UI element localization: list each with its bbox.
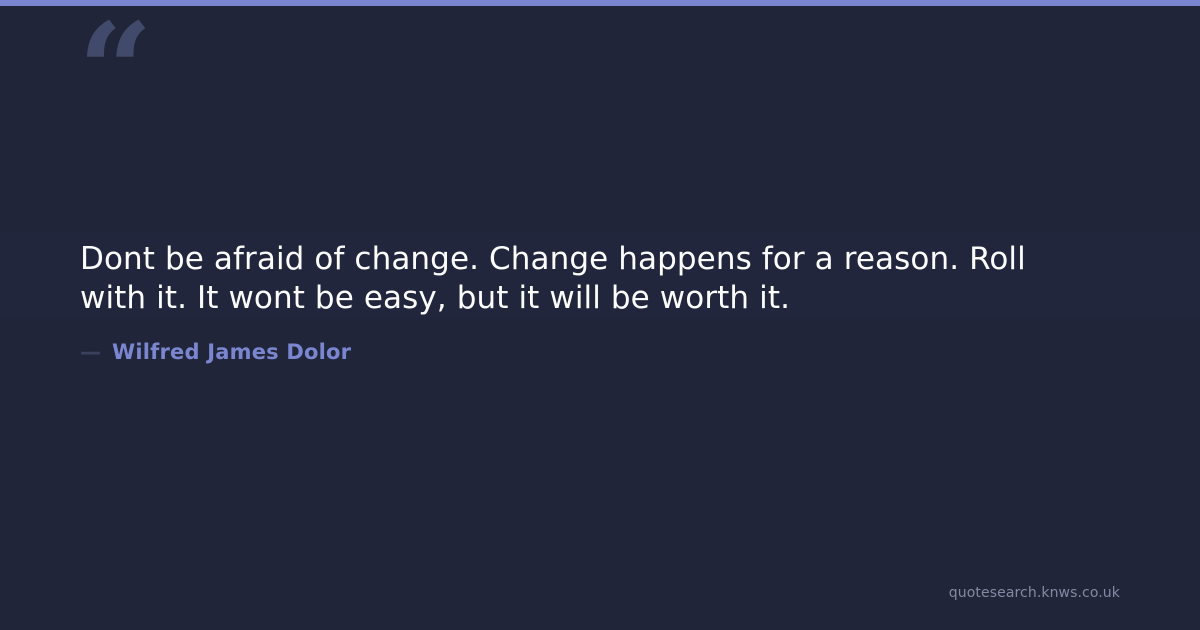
quotation-mark-icon: “ xyxy=(78,6,198,116)
attribution-dash: — xyxy=(80,338,101,366)
attribution: — Wilfred James Dolor xyxy=(80,338,351,366)
quote-text: Dont be afraid of change. Change happens… xyxy=(80,240,1090,318)
site-source-label: quotesearch.knws.co.uk xyxy=(949,584,1120,602)
author-name: Wilfred James Dolor xyxy=(112,338,351,366)
quote-block: Dont be afraid of change. Change happens… xyxy=(80,240,1090,318)
quote-card: “ Dont be afraid of change. Change happe… xyxy=(0,0,1200,630)
